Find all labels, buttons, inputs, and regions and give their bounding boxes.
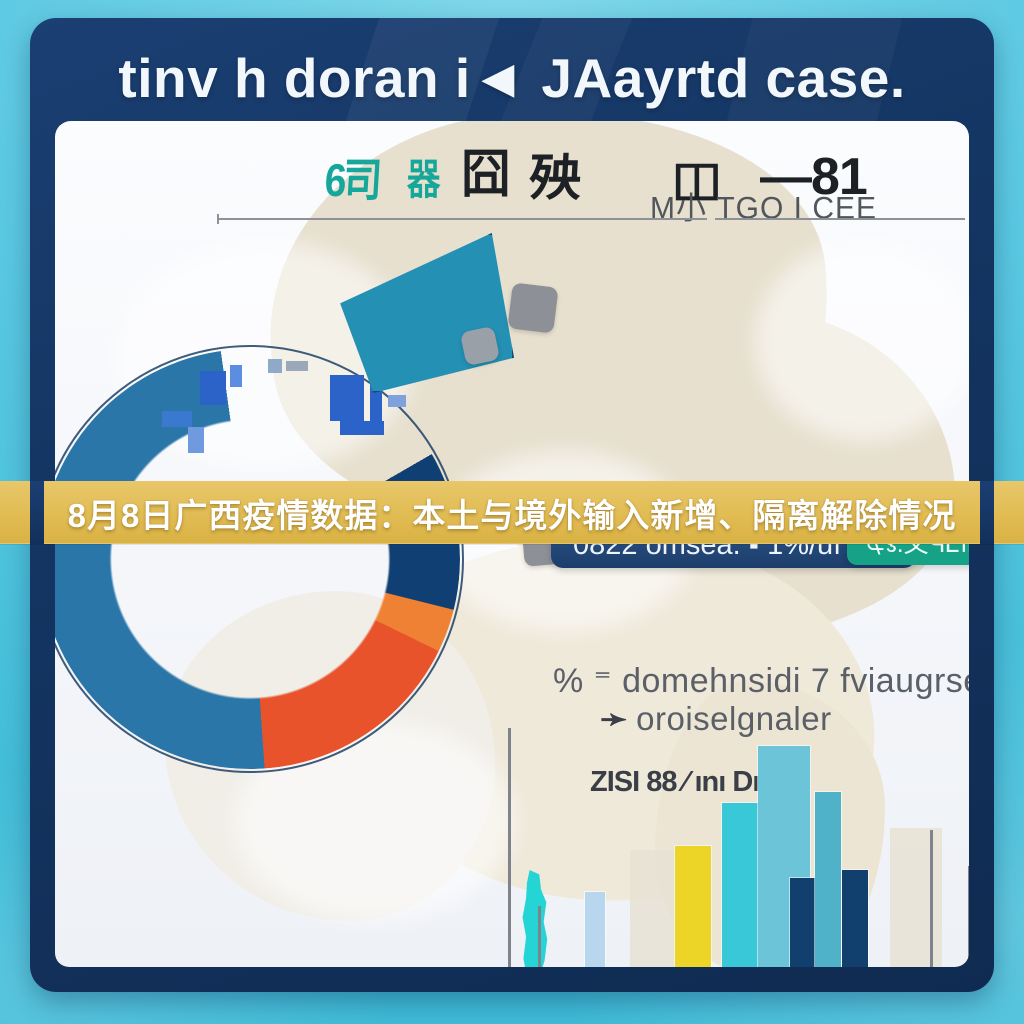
map-fragment	[188, 427, 204, 453]
axis-tick	[968, 866, 969, 967]
panel-glyph-subtitle: M小 TGO I CEE	[650, 182, 877, 228]
glyph-3: 囧	[461, 149, 505, 201]
chart-panel: 6司 器 囧 殃 ◫ —81 M小 TGO I CEE	[55, 121, 969, 967]
glyph-4: 殃	[528, 153, 576, 203]
grey-square-marker	[507, 282, 558, 333]
map-fragment	[286, 361, 308, 371]
bar-5	[722, 803, 758, 967]
map-fragment	[162, 411, 192, 427]
axis-tick	[538, 906, 541, 967]
cyan-figure-silhouette	[512, 870, 556, 967]
map-fragment	[230, 365, 242, 387]
map-fragment	[330, 375, 364, 421]
bar-7	[790, 878, 816, 967]
bar-8	[815, 792, 841, 967]
map-fragment	[200, 371, 226, 405]
donut-outline	[55, 345, 464, 773]
glyph-1: 6司	[323, 157, 380, 203]
map-fragment	[388, 395, 406, 407]
bar-4	[675, 846, 711, 967]
card-title: tinv h doran i◄ JAayrtd case.	[30, 46, 994, 110]
glyph-2: 器	[407, 159, 438, 201]
caption-banner: 8月8日广西疫情数据：本土与境外输入新增、隔离解除情况	[0, 481, 1024, 544]
bar-2	[585, 892, 605, 967]
map-mist	[755, 241, 969, 441]
note-line-1: % ⁼ domehnsidi 7 fviaugrsed carl	[553, 661, 969, 701]
donut-chart	[55, 349, 460, 769]
caption-text: 8月8日广西疫情数据：本土与境外输入新增、隔离解除情况	[68, 489, 957, 537]
bar-9	[842, 870, 868, 967]
divider-right	[715, 218, 965, 220]
map-fragment	[268, 359, 282, 373]
bar-chart-y-axis	[508, 728, 511, 967]
axis-tick	[930, 830, 933, 967]
map-fragment	[340, 421, 384, 435]
chart-backdrop-block	[890, 828, 942, 967]
bar-chart	[490, 726, 969, 967]
divider-left	[217, 218, 707, 220]
